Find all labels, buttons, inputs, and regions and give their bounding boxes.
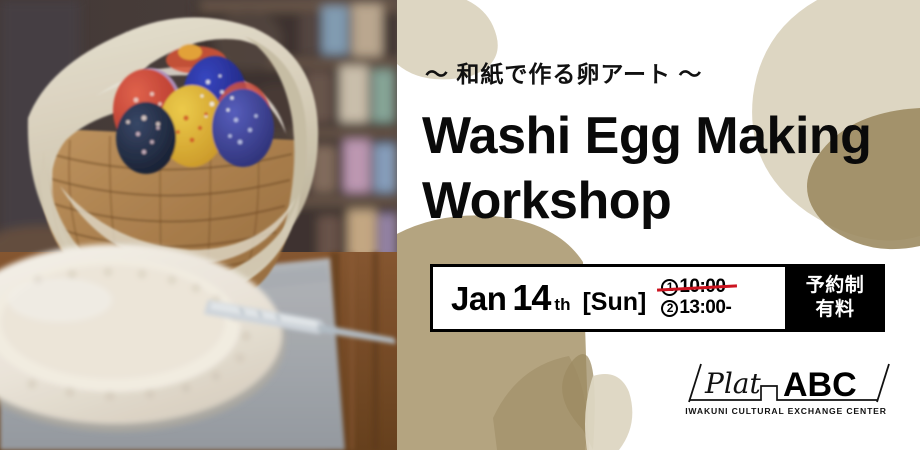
- date-day-of-week: [Sun]: [582, 288, 646, 317]
- logo-tagline: IWAKUNI CULTURAL EXCHANGE CENTER: [677, 406, 895, 416]
- event-photo-illustration: [0, 0, 397, 450]
- reservation-badge-line-2: 有料: [815, 298, 854, 322]
- event-date-bar: Jan 14 th [Sun] 1 10:00 2 13:00: [430, 264, 885, 332]
- session-number-2: 2: [661, 300, 678, 317]
- poster-text-content: 〜 和紙で作る卵アート 〜 Washi Egg Making Workshop …: [397, 0, 920, 450]
- reservation-badge: 予約制 有料: [785, 264, 885, 332]
- date-day: 14: [512, 277, 550, 319]
- poster-title-line-1: Washi Egg Making: [422, 104, 920, 169]
- session-time-row-1: 1 10:00: [661, 277, 731, 298]
- poster-right-panel: 〜 和紙で作る卵アート 〜 Washi Egg Making Workshop …: [397, 0, 920, 450]
- svg-text:ABC: ABC: [783, 366, 857, 404]
- poster-canvas: 〜 和紙で作る卵アート 〜 Washi Egg Making Workshop …: [0, 0, 920, 450]
- reservation-badge-line-1: 予約制: [806, 274, 865, 298]
- poster-title: Washi Egg Making Workshop: [422, 104, 920, 234]
- session-time-2: 13:00-: [679, 298, 731, 319]
- session-time-row-2: 2 13:00-: [661, 298, 731, 319]
- date-ordinal-suffix: th: [554, 295, 570, 315]
- svg-text:Plat: Plat: [704, 367, 761, 400]
- event-date: Jan 14 th [Sun]: [451, 277, 646, 319]
- date-time-box: Jan 14 th [Sun] 1 10:00 2 13:00: [430, 264, 785, 332]
- session-times: 1 10:00 2 13:00-: [661, 277, 731, 318]
- date-month: Jan: [451, 280, 506, 318]
- poster-title-line-2: Workshop: [422, 169, 920, 234]
- event-photo: [0, 0, 397, 450]
- plat-abc-logo-mark: Plat ABC: [677, 358, 895, 406]
- organization-logo: Plat ABC IWAKUNI CULTURAL EXCHANGE CENTE…: [677, 358, 895, 420]
- poster-subtitle: 〜 和紙で作る卵アート 〜: [425, 55, 702, 89]
